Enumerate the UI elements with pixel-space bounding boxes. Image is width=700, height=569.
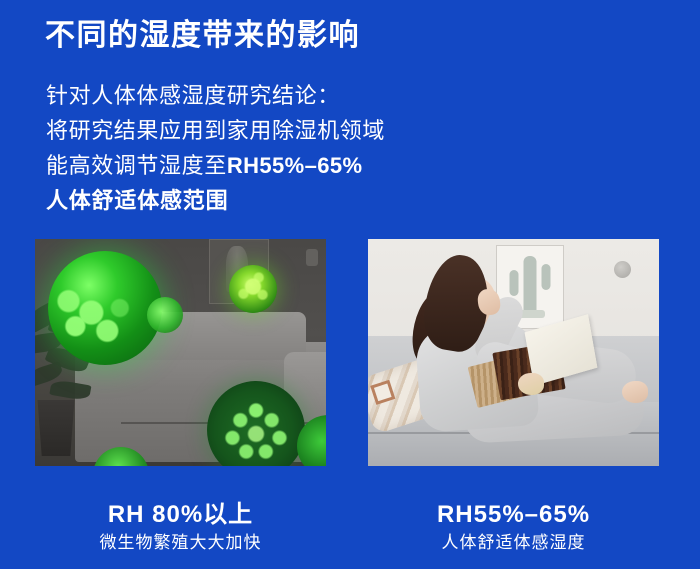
caption-left: RH 80%以上 微生物繁殖大大加快 <box>35 500 326 556</box>
body-copy-line-3: 能高效调节湿度至RH55%–65% <box>46 148 385 183</box>
woman-foot-shape <box>622 381 648 403</box>
microbe-large-icon <box>48 251 162 365</box>
body-copy-block: 针对人体体感湿度研究结论： 将研究结果应用到家用除湿机领域 能高效调节湿度至RH… <box>46 78 385 218</box>
cactus-icon <box>524 256 537 314</box>
humidity-range-value: RH55%–65% <box>227 153 363 178</box>
body-copy-line-1: 针对人体体感湿度研究结论： <box>46 78 385 113</box>
wall-sensor-icon <box>306 249 318 266</box>
photo-panel-right <box>368 239 659 466</box>
microbe-medium-icon <box>229 265 277 313</box>
poster-canvas: 不同的湿度带来的影响 针对人体体感湿度研究结论： 将研究结果应用到家用除湿机领域… <box>0 0 700 569</box>
body-copy-line-4: 人体舒适体感范围 <box>46 183 385 218</box>
photo-woman-reading-on-sofa <box>368 239 659 466</box>
caption-right-main: RH55%–65% <box>368 500 659 530</box>
photo-panel-left <box>35 239 326 466</box>
plant-leaf <box>49 379 91 402</box>
plant-pot-shape <box>35 400 77 456</box>
page-title: 不同的湿度带来的影响 <box>45 17 360 55</box>
woman-hand-holding-book-shape <box>518 373 544 395</box>
microbe-cluster-icon <box>147 297 183 333</box>
wall-sensor-icon <box>614 261 631 278</box>
caption-left-main: RH 80%以上 <box>35 500 326 530</box>
body-copy-line-3-prefix: 能高效调节湿度至 <box>46 153 227 178</box>
photo-dark-room-with-microbes <box>35 239 326 466</box>
pillow-motif <box>370 380 395 405</box>
body-copy-line-2: 将研究结果应用到家用除湿机领域 <box>46 113 385 148</box>
caption-right: RH55%–65% 人体舒适体感湿度 <box>368 500 659 556</box>
caption-left-sub: 微生物繁殖大大加快 <box>35 530 326 556</box>
caption-right-sub: 人体舒适体感湿度 <box>368 530 659 556</box>
